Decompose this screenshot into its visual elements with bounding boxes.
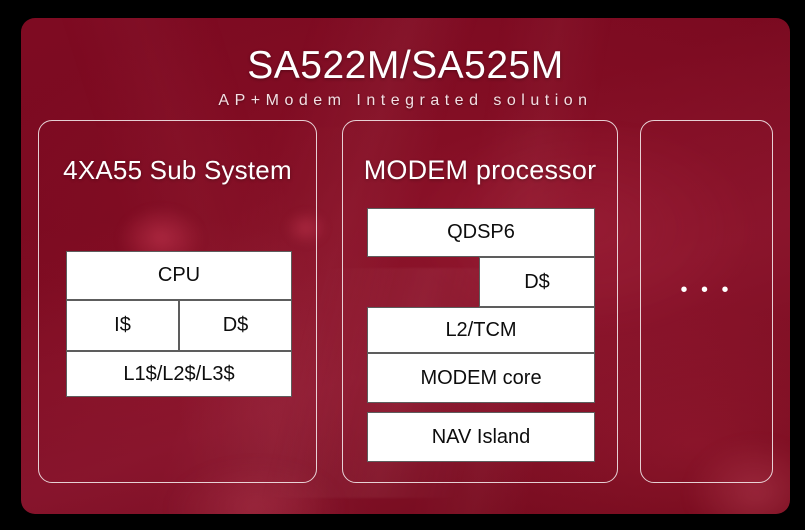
block-l1-l2-l3-cache: L1$/L2$/L3$ bbox=[66, 351, 292, 397]
block-nav-island: NAV Island bbox=[367, 412, 595, 462]
panel-modem-title: MODEM processor bbox=[343, 155, 617, 186]
block-qdsp6: QDSP6 bbox=[367, 208, 595, 257]
page-subtitle: AP+Modem Integrated solution bbox=[21, 92, 790, 110]
block-icache: I$ bbox=[66, 300, 179, 351]
block-cpu: CPU bbox=[66, 251, 292, 300]
slide-card: SA522M/SA525M AP+Modem Integrated soluti… bbox=[21, 18, 790, 514]
panel-modem-processor: MODEM processor QDSP6 D$ L2/TCM MODEM co… bbox=[342, 120, 618, 483]
block-modem-dcache: D$ bbox=[479, 257, 595, 307]
block-dcache: D$ bbox=[179, 300, 292, 351]
panel-more-placeholder: • • • bbox=[640, 120, 773, 483]
block-modem-core: MODEM core bbox=[367, 353, 595, 403]
page-title: SA522M/SA525M bbox=[21, 44, 790, 88]
block-l2-tcm: L2/TCM bbox=[367, 307, 595, 353]
slide-root: SA522M/SA525M AP+Modem Integrated soluti… bbox=[0, 0, 805, 530]
ellipsis-icon: • • • bbox=[641, 284, 772, 296]
panel-cpu-subsystem: 4XA55 Sub System CPU I$ D$ L1$/L2$/L3$ bbox=[38, 120, 317, 483]
panel-cpu-title: 4XA55 Sub System bbox=[39, 155, 316, 186]
